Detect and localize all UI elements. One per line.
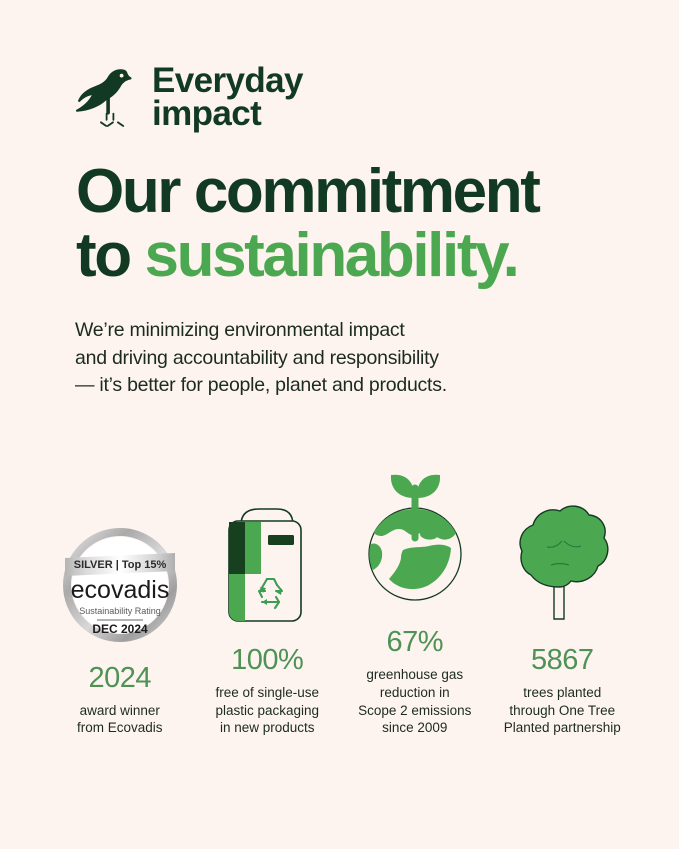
stat-caption-line: reduction in [358, 684, 471, 702]
stat-caption-line: award winner [77, 702, 163, 720]
stat-caption-line: in new products [215, 719, 319, 737]
headline-line1: Our commitment [76, 157, 538, 226]
stats-row: SILVER | Top 15% ecovadis Sustainability… [46, 462, 636, 737]
stat-item-packaging: 100% free of single-use plastic packagin… [194, 480, 342, 737]
stat-item-emissions: 67% greenhouse gas reduction in Scope 2 … [341, 462, 489, 737]
stat-item-trees: 5867 trees planted through One Tree Plan… [489, 480, 637, 737]
stat-icon-wrap [357, 462, 473, 608]
stat-caption-line: plastic packaging [215, 702, 319, 720]
stat-number: 2024 [88, 664, 151, 693]
stat-number: 5867 [531, 646, 594, 675]
sustainability-infographic: Everyday impact Our commitment to sustai… [0, 0, 679, 849]
stat-caption-line: through One Tree [504, 702, 621, 720]
stat-item-ecovadis: SILVER | Top 15% ecovadis Sustainability… [46, 498, 194, 738]
stat-caption: trees planted through One Tree Planted p… [504, 684, 621, 737]
stat-icon-wrap [507, 480, 617, 626]
brand-name-line2: impact [152, 98, 303, 131]
stat-icon-wrap: SILVER | Top 15% ecovadis Sustainability… [59, 498, 181, 644]
carton-packaging-recycle-icon [215, 501, 319, 626]
stat-number: 100% [231, 646, 303, 675]
intro-line-2: and driving accountability and responsib… [75, 345, 447, 373]
badge-tier-label: SILVER | Top 15% [73, 559, 166, 571]
stat-caption-line: trees planted [504, 684, 621, 702]
stat-number: 67% [386, 628, 443, 657]
tree-icon [507, 491, 617, 626]
stat-caption-line: free of single-use [215, 684, 319, 702]
bird-icon [76, 62, 138, 134]
headline-line2-accent: sustainability. [145, 221, 518, 290]
badge-date: DEC 2024 [92, 622, 148, 636]
stat-caption-line: greenhouse gas [358, 666, 471, 684]
intro-line-3: — it’s better for people, planet and pro… [75, 372, 447, 400]
page-title: Our commitment to sustainability. [76, 160, 538, 288]
brand-wordmark: Everyday impact [152, 65, 303, 131]
headline-line2-prefix: to [76, 221, 145, 290]
intro-paragraph: We’re minimizing environmental impact an… [75, 317, 447, 400]
stat-icon-wrap [215, 480, 319, 626]
stat-caption: greenhouse gas reduction in Scope 2 emis… [358, 666, 471, 737]
stat-caption-line: Planted partnership [504, 719, 621, 737]
intro-line-1: We’re minimizing environmental impact [75, 317, 447, 345]
stat-caption-line: Scope 2 emissions [358, 702, 471, 720]
ecovadis-medal-icon: SILVER | Top 15% ecovadis Sustainability… [59, 522, 181, 644]
stat-caption: award winner from Ecovadis [77, 702, 163, 738]
stat-caption: free of single-use plastic packaging in … [215, 684, 319, 737]
badge-wordmark: ecovadis [70, 576, 169, 604]
stat-caption-line: since 2009 [358, 719, 471, 737]
badge-subtitle: Sustainability Rating [79, 606, 161, 616]
brand-logo: Everyday impact [76, 62, 303, 134]
stat-caption-line: from Ecovadis [77, 719, 163, 737]
globe-sprout-icon [357, 462, 473, 608]
